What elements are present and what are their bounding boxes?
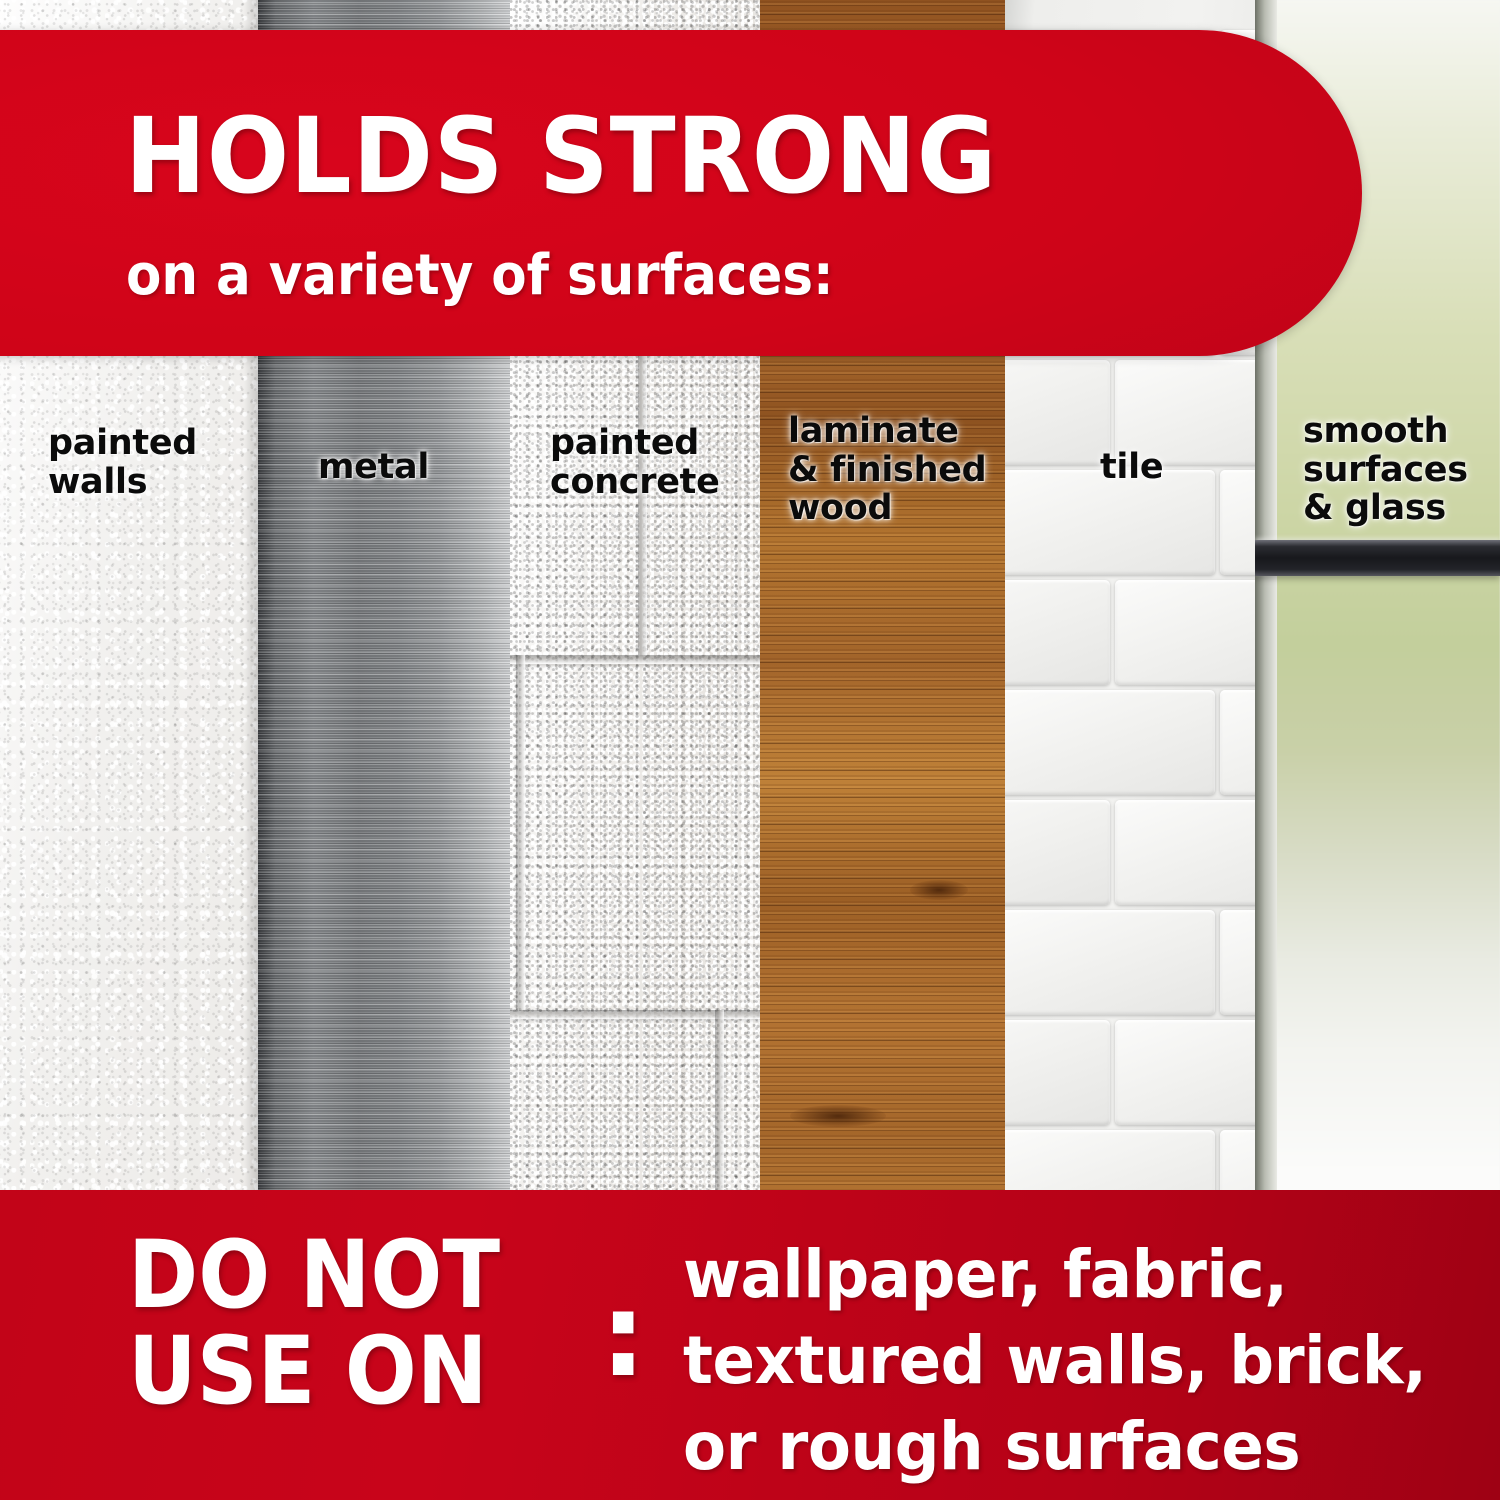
tile-unit	[1220, 690, 1255, 795]
tile-unit	[1005, 580, 1110, 685]
top-red-banner: HOLDS STRONG on a variety of surfaces:	[0, 30, 1362, 356]
top-banner-content: HOLDS STRONG on a variety of surfaces:	[0, 30, 1362, 356]
tile-unit	[1005, 800, 1110, 905]
tile-unit	[1115, 1020, 1255, 1125]
tile-unit	[1005, 1020, 1110, 1125]
mortar-line-vertical	[715, 1010, 724, 1200]
surface-label-painted-walls: painted walls	[48, 424, 197, 501]
tile-unit	[1005, 690, 1215, 795]
tile-unit	[1115, 800, 1255, 905]
tile-unit	[1220, 910, 1255, 1015]
surface-label-tile: tile	[1100, 448, 1163, 487]
subheadline-variety-of-surfaces: on a variety of surfaces:	[126, 248, 834, 304]
headline-holds-strong: HOLDS STRONG	[125, 104, 997, 208]
wood-knot-icon	[910, 880, 968, 900]
warning-title-do-not-use-on: DO NOT USE ON	[128, 1228, 500, 1420]
warning-surface-list: wallpaper, fabric, textured walls, brick…	[683, 1232, 1426, 1489]
bottom-red-banner: DO NOT USE ON : wallpaper, fabric, textu…	[0, 1190, 1500, 1500]
tile-unit	[1005, 910, 1215, 1015]
mortar-line-horizontal	[510, 655, 760, 664]
tile-unit	[1220, 470, 1255, 575]
mortar-line-vertical	[516, 655, 525, 1010]
surface-label-smooth-glass: smooth surfaces & glass	[1303, 412, 1468, 528]
surface-label-painted-concrete: painted concrete	[550, 424, 720, 501]
warning-colon-separator: :	[600, 1278, 646, 1394]
product-infographic: painted walls metal painted concrete lam…	[0, 0, 1500, 1500]
tile-unit	[1005, 360, 1110, 465]
window-mullion-bar	[1255, 540, 1500, 576]
surface-label-laminate-wood: laminate & finished wood	[788, 412, 986, 528]
surface-label-metal: metal	[318, 448, 429, 487]
tile-unit	[1115, 580, 1255, 685]
wood-knot-icon	[790, 1105, 886, 1127]
